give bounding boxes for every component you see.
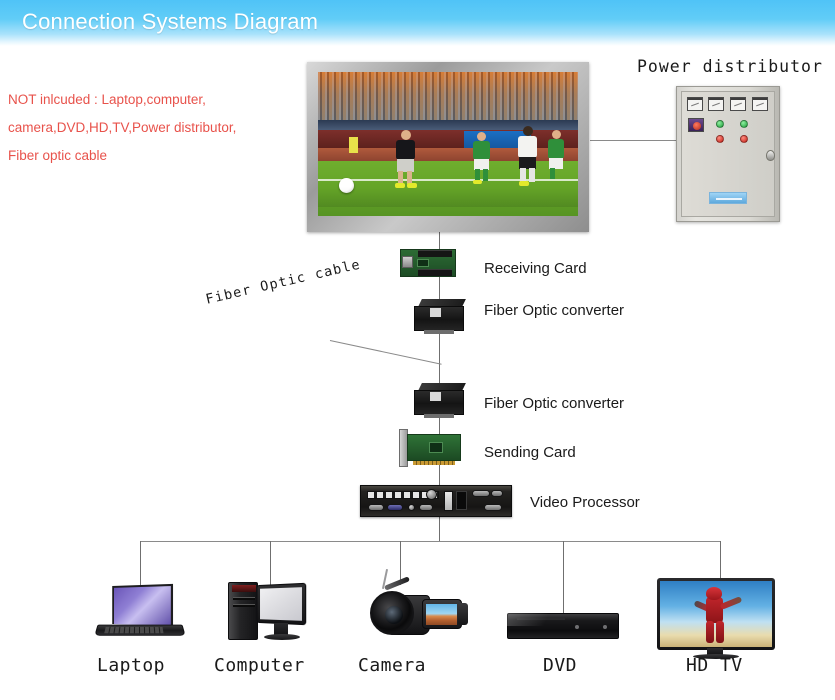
note-line-1: NOT inlcuded : Laptop,computer, (8, 86, 318, 114)
device-laptop (96, 585, 184, 641)
video-processor-knob-1[interactable] (426, 489, 437, 500)
line-fiber-optic-run (439, 331, 440, 383)
label-fiber-converter-bottom: Fiber Optic converter (484, 395, 624, 412)
video-processor (360, 485, 512, 517)
cabinet-meter-3 (730, 97, 746, 111)
label-laptop: Laptop (97, 655, 165, 676)
not-included-note: NOT inlcuded : Laptop,computer, camera,D… (8, 86, 318, 170)
dvd-indicator-2 (603, 625, 607, 629)
computer-monitor (257, 583, 307, 625)
line-receiving-to-converter-top (439, 277, 440, 299)
cabinet-badge (709, 192, 747, 204)
receiving-card (400, 249, 456, 277)
video-processor-knob-2[interactable] (408, 504, 415, 511)
camera-microphone (384, 576, 410, 590)
player-green-1 (471, 140, 493, 188)
fiber-optic-converter-bottom (414, 383, 464, 415)
note-line-3: Fiber optic cable (8, 142, 318, 170)
line-drop-laptop (140, 541, 141, 587)
fiber-optic-converter-top (414, 299, 464, 331)
laptop-screen (112, 584, 173, 626)
cabinet-lamp-green-2 (740, 120, 748, 128)
corner-flag (349, 137, 358, 153)
sending-card-edge-connector (413, 461, 455, 465)
video-processor-port-4 (472, 490, 490, 497)
converter-foot (424, 330, 454, 334)
video-processor-port-3 (419, 504, 433, 511)
hdtv-player-leg-left (706, 621, 714, 643)
player-green-2 (547, 138, 567, 184)
cabinet-meter-1 (687, 97, 703, 111)
camera-grip (458, 603, 468, 625)
video-processor-port-5 (491, 490, 503, 497)
video-processor-lcd (456, 491, 467, 510)
player-coach (393, 138, 419, 190)
video-processor-port-1 (368, 504, 384, 511)
line-drop-dvd (563, 541, 564, 613)
device-computer (228, 578, 312, 642)
player-white-1 (516, 135, 540, 189)
hdtv-screen (660, 581, 772, 647)
label-computer: Computer (214, 655, 305, 676)
video-processor-display (444, 491, 453, 511)
power-distributor-cabinet (676, 86, 780, 222)
note-line-2: camera,DVD,HD,TV,Power distributor, (8, 114, 318, 142)
computer-tower-top-panel (232, 585, 256, 592)
cabinet-door-handle[interactable] (766, 150, 775, 161)
led-video-wall (307, 62, 589, 232)
line-drop-hdtv (720, 541, 721, 581)
camera-lcd-preview (426, 604, 457, 625)
camera-flip-screen (422, 599, 462, 629)
stadium-rail (318, 120, 578, 130)
label-dvd: DVD (543, 655, 577, 676)
label-receiving-card: Receiving Card (484, 260, 587, 277)
label-fiber-converter-top: Fiber Optic converter (484, 302, 624, 319)
sending-card-chip (429, 442, 443, 453)
device-dvd (507, 605, 619, 641)
computer-monitor-foot (264, 634, 300, 640)
label-sending-card: Sending Card (484, 444, 576, 461)
receiving-card-port (402, 256, 413, 268)
computer-tower (228, 582, 258, 640)
receiving-card-connector-bottom (418, 269, 452, 276)
line-source-bus (140, 541, 720, 542)
converter-label (430, 392, 441, 401)
video-processor-body (360, 485, 512, 517)
hdtv-player-leg-right (716, 621, 724, 643)
line-fiber-cable-callout (330, 340, 442, 365)
device-camera (362, 585, 472, 641)
cabinet-lamp-red-2 (740, 135, 748, 143)
label-fiber-optic-cable: Fiber Optic cable (204, 257, 362, 308)
dvd-indicator-1 (575, 625, 579, 629)
stadium-crowd (318, 72, 578, 120)
dvd-sheen (507, 613, 562, 626)
computer-monitor-screen (260, 587, 302, 621)
device-hdtv (657, 578, 777, 660)
receiving-card-connector-top (418, 250, 452, 257)
cabinet-meter-2 (708, 97, 724, 111)
page-title: Connection Systems Diagram (22, 9, 318, 35)
label-power-distributor: Power distributor (637, 57, 823, 76)
converter-label (430, 308, 441, 317)
computer-drive-slot-2 (233, 604, 255, 607)
camera-lens (370, 591, 414, 635)
cabinet-switch-box[interactable] (688, 118, 704, 132)
line-screen-to-distributor (590, 140, 676, 141)
laptop-keyboard (104, 627, 163, 633)
cabinet-lamp-red-1 (716, 135, 724, 143)
hdtv-player-torso (706, 597, 723, 623)
laptop-base (94, 625, 185, 636)
hdtv-player-helmet (706, 587, 722, 600)
hdtv-player-arm-right (720, 596, 743, 610)
pitch-shadow (318, 187, 578, 207)
diagram-canvas: Connection Systems Diagram NOT inlcuded … (0, 0, 835, 700)
converter-foot (424, 414, 454, 418)
label-camera: Camera (358, 655, 426, 676)
line-processor-to-bus (439, 517, 440, 541)
cabinet-lamp-green-1 (716, 120, 724, 128)
computer-drive-slot-1 (233, 597, 255, 600)
label-hdtv: HD TV (686, 655, 743, 676)
page-header: Connection Systems Diagram (0, 0, 835, 46)
video-processor-port-2 (387, 504, 403, 511)
label-video-processor: Video Processor (530, 494, 640, 511)
sending-card (399, 432, 461, 465)
video-processor-port-6 (484, 504, 502, 511)
led-wall-screen-content (318, 72, 578, 216)
hdtv-frame (657, 578, 775, 650)
receiving-card-chip (417, 259, 429, 267)
cabinet-meter-4 (752, 97, 768, 111)
line-sending-card-to-processor (439, 465, 440, 485)
